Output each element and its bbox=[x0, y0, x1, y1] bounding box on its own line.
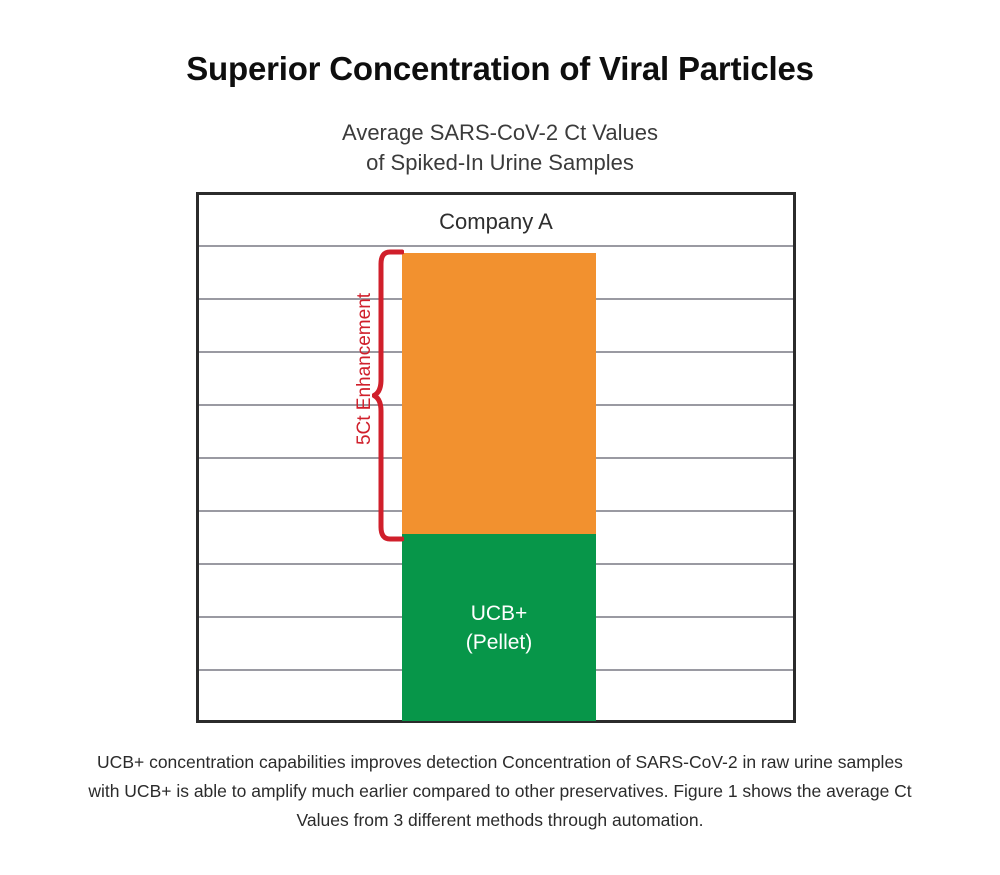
annotation-label-5ct-enhancement: 5Ct Enhancement bbox=[354, 244, 376, 494]
bar-segment-ucbplus-pellet[interactable]: UCB+ (Pellet) bbox=[402, 534, 596, 721]
bar-segment-company-a[interactable] bbox=[402, 253, 596, 534]
stacked-bar[interactable]: UCB+ (Pellet) bbox=[402, 253, 596, 721]
page-title: Superior Concentration of Viral Particle… bbox=[0, 50, 1000, 88]
enhancement-annotation: 5Ct Enhancement bbox=[324, 248, 404, 543]
chart-subtitle: Average SARS-CoV-2 Ct Values of Spiked-I… bbox=[0, 118, 1000, 178]
figure-caption: UCB+ concentration capabilities improves… bbox=[80, 748, 920, 835]
category-label-company-a: Company A bbox=[196, 209, 796, 235]
figure-container: Superior Concentration of Viral Particle… bbox=[0, 0, 1000, 875]
bar-segment-label-ucbplus: UCB+ (Pellet) bbox=[466, 599, 533, 657]
gridline bbox=[199, 245, 793, 247]
curly-brace-icon bbox=[372, 248, 404, 543]
